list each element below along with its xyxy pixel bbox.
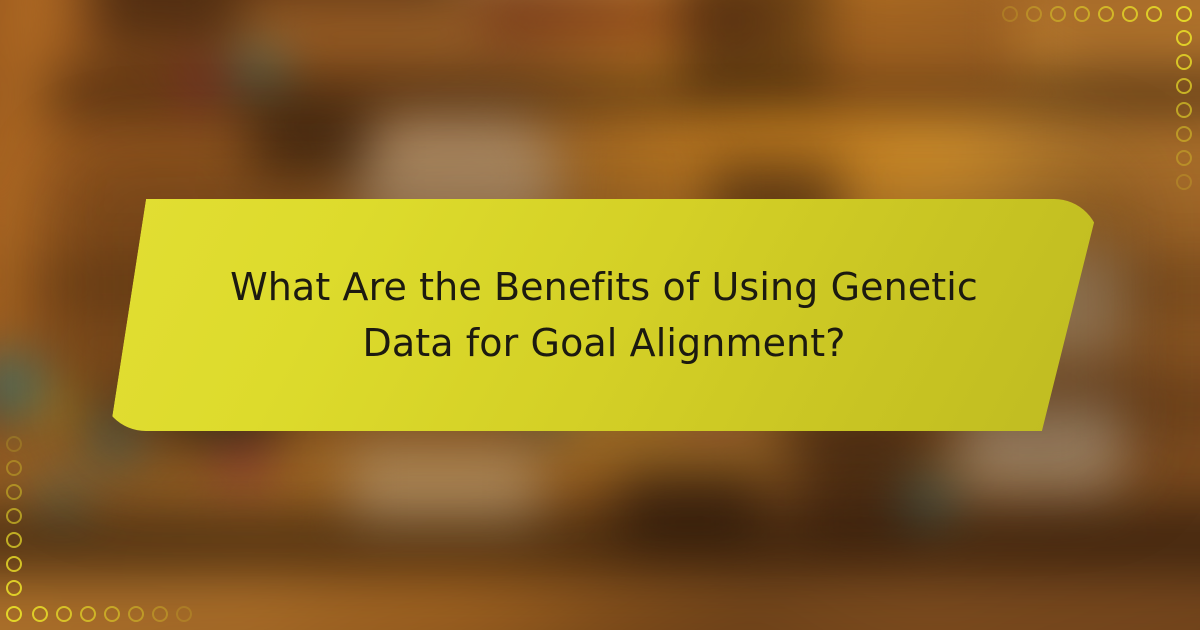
ring-icon: [6, 436, 22, 452]
background-accent: [238, 48, 282, 84]
background-object: [90, 0, 240, 50]
background-accent: [182, 60, 216, 106]
background-band: [0, 505, 1200, 575]
ring-icon: [1176, 126, 1192, 142]
ring-icon: [176, 606, 192, 622]
ring-icon: [1176, 174, 1192, 190]
title-card: What Are the Benefits of Using Genetic D…: [100, 199, 1100, 431]
ring-icon: [1176, 78, 1192, 94]
background-band: [0, 70, 1200, 118]
ring-icon: [56, 606, 72, 622]
ring-icon: [1176, 30, 1192, 46]
ring-icon: [6, 508, 22, 524]
ring-icon: [152, 606, 168, 622]
ring-icon: [104, 606, 120, 622]
ring-icon: [32, 606, 48, 622]
background-object: [680, 0, 830, 100]
ring-icon: [80, 606, 96, 622]
ring-icon: [1176, 150, 1192, 166]
ring-icon: [1122, 6, 1138, 22]
ring-icon: [1176, 54, 1192, 70]
ring-icon: [1176, 6, 1192, 22]
ring-icon: [128, 606, 144, 622]
ring-icon: [1176, 102, 1192, 118]
ring-icon: [6, 556, 22, 572]
ring-icon: [1146, 6, 1162, 22]
ring-icon: [1074, 6, 1090, 22]
share-card-canvas: What Are the Benefits of Using Genetic D…: [0, 0, 1200, 630]
background-object: [820, 0, 1020, 100]
ring-icon: [6, 580, 22, 596]
ring-icon: [1098, 6, 1114, 22]
ring-icon: [1026, 6, 1042, 22]
ring-icon: [6, 606, 22, 622]
ring-icon: [6, 460, 22, 476]
ring-icon: [1050, 6, 1066, 22]
ring-icon: [6, 484, 22, 500]
ring-icon: [6, 532, 22, 548]
page-title: What Are the Benefits of Using Genetic D…: [181, 259, 1019, 371]
ring-icon: [1002, 6, 1018, 22]
background-accent: [40, 476, 84, 514]
